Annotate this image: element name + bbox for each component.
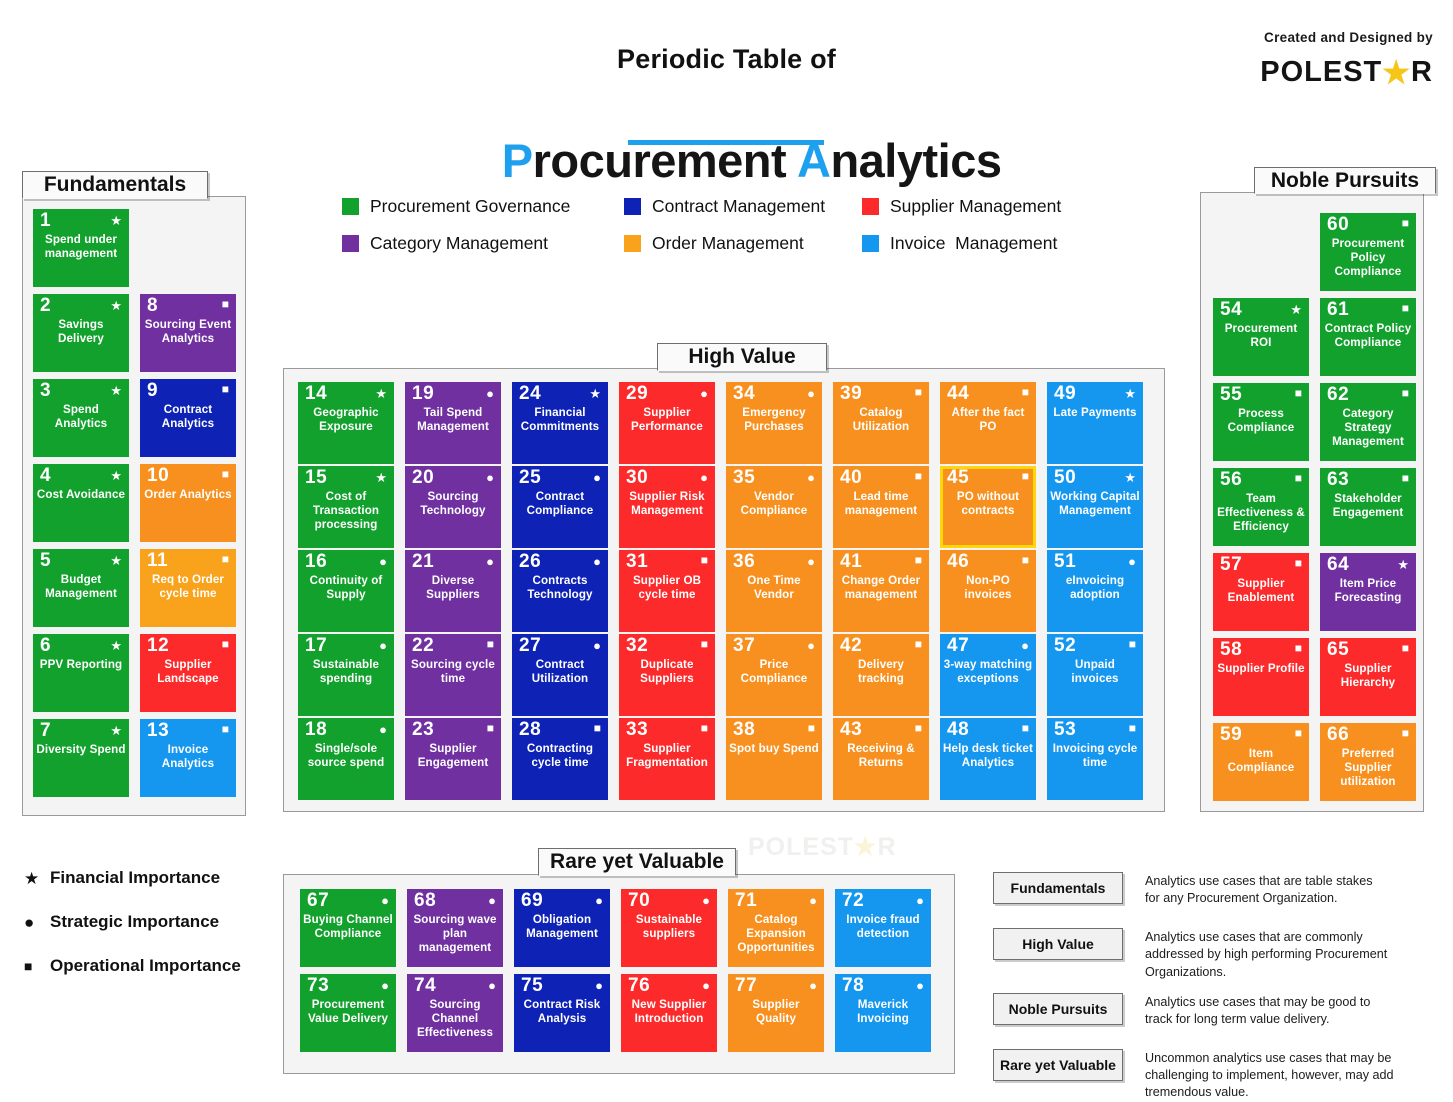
- element-cell[interactable]: 43■Receiving & Returns: [833, 718, 929, 800]
- element-cell[interactable]: 16●Continuity of Supply: [298, 550, 394, 632]
- element-number: 54: [1220, 300, 1242, 320]
- definition-row: FundamentalsAnalytics use cases that are…: [993, 872, 1443, 908]
- category-legend-row: Procurement GovernanceContract Managemen…: [342, 196, 1102, 217]
- color-swatch: [624, 198, 641, 215]
- element-cell[interactable]: 17●Sustainable spending: [298, 634, 394, 716]
- panel-tab-rare-yet-valuable: Rare yet Valuable: [538, 848, 736, 876]
- element-cell[interactable]: 18●Single/sole source spend: [298, 718, 394, 800]
- element-number: 41: [840, 552, 862, 572]
- element-cell[interactable]: 67●Buying Channel Compliance: [300, 889, 396, 967]
- element-number: 20: [412, 468, 434, 488]
- element-cell[interactable]: 27●Contract Utilization: [512, 634, 608, 716]
- importance-legend: ★Financial Importance●Strategic Importan…: [24, 868, 284, 1000]
- element-cell[interactable]: 41■Change Order management: [833, 550, 929, 632]
- panel-fundamentals: 1★Spend under management2★Savings Delive…: [22, 196, 246, 816]
- element-cell[interactable]: 62■Category Strategy Management: [1320, 383, 1416, 461]
- element-name: Catalog Utilization: [836, 406, 926, 434]
- square-icon: ■: [1022, 386, 1029, 398]
- element-number: 15: [305, 468, 327, 488]
- element-number: 26: [519, 552, 541, 572]
- element-name: Invoice fraud detection: [838, 913, 928, 941]
- color-swatch: [624, 235, 641, 252]
- element-number: 74: [414, 976, 436, 996]
- element-name: Sourcing cycle time: [408, 658, 498, 686]
- category-legend-item: Procurement Governance: [342, 196, 624, 217]
- element-cell[interactable]: 6★PPV Reporting: [33, 634, 129, 712]
- element-name: Contract Policy Compliance: [1323, 322, 1413, 350]
- definition-text: Analytics use cases that are commonly ad…: [1145, 928, 1387, 981]
- element-number: 12: [147, 636, 169, 656]
- square-icon: ■: [222, 553, 229, 565]
- importance-legend-label: Strategic Importance: [50, 912, 219, 932]
- element-name: New Supplier Introduction: [624, 998, 714, 1026]
- element-name: Help desk ticket Analytics: [943, 742, 1033, 770]
- element-cell[interactable]: 2★Savings Delivery: [33, 294, 129, 372]
- element-cell[interactable]: 12■Supplier Landscape: [140, 634, 236, 712]
- element-name: Stakeholder Engagement: [1323, 492, 1413, 520]
- element-number: 23: [412, 720, 434, 740]
- element-cell[interactable]: 39■Catalog Utilization: [833, 382, 929, 464]
- element-number: 48: [947, 720, 969, 740]
- circle-icon: ●: [486, 387, 494, 400]
- category-legend-label: Category Management: [370, 233, 548, 254]
- star-icon: ★: [1397, 558, 1409, 571]
- element-name: Contract Risk Analysis: [517, 998, 607, 1026]
- circle-icon: ●: [488, 894, 496, 907]
- panel-tab-high-value: High Value: [657, 343, 827, 371]
- element-cell[interactable]: 49★Late Payments: [1047, 382, 1143, 464]
- element-number: 70: [628, 891, 650, 911]
- element-name: Savings Delivery: [36, 318, 126, 346]
- element-number: 73: [307, 976, 329, 996]
- category-legend-item: Order Management: [624, 233, 862, 254]
- element-cell[interactable]: 61■Contract Policy Compliance: [1320, 298, 1416, 376]
- square-icon: ■: [1402, 727, 1409, 739]
- element-cell[interactable]: 3★Spend Analytics: [33, 379, 129, 457]
- element-name: After the fact PO: [943, 406, 1033, 434]
- element-number: 58: [1220, 640, 1242, 660]
- element-name: Preferred Supplier utilization: [1323, 747, 1413, 789]
- definition-chip[interactable]: Rare yet Valuable: [993, 1049, 1123, 1081]
- star-icon: ★: [1124, 387, 1136, 400]
- element-name: Spend Analytics: [36, 403, 126, 431]
- square-icon: ■: [222, 638, 229, 650]
- element-name: Contracts Technology: [515, 574, 605, 602]
- element-name: Late Payments: [1050, 406, 1140, 420]
- polestar-logo: POLEST★R: [1260, 55, 1433, 87]
- element-number: 68: [414, 891, 436, 911]
- element-name: Continuity of Supply: [301, 574, 391, 602]
- definitions-list: FundamentalsAnalytics use cases that are…: [993, 872, 1443, 1102]
- square-icon: ■: [222, 298, 229, 310]
- element-name: Tail Spend Management: [408, 406, 498, 434]
- element-name: Category Strategy Management: [1323, 407, 1413, 449]
- element-number: 50: [1054, 468, 1076, 488]
- element-number: 49: [1054, 384, 1076, 404]
- element-number: 34: [733, 384, 755, 404]
- square-icon: ■: [701, 722, 708, 734]
- category-legend-label: Invoice Management: [890, 233, 1057, 254]
- element-name: Supplier Fragmentation: [622, 742, 712, 770]
- element-name: Cost Avoidance: [36, 488, 126, 502]
- element-number: 77: [735, 976, 757, 996]
- element-cell[interactable]: 74●Sourcing Channel Effectiveness: [407, 974, 503, 1052]
- definition-chip[interactable]: Noble Pursuits: [993, 993, 1123, 1025]
- circle-icon: ●: [379, 639, 387, 652]
- element-number: 35: [733, 468, 755, 488]
- square-icon: ■: [1129, 722, 1136, 734]
- category-legend-item: Category Management: [342, 233, 624, 254]
- circle-icon: ●: [807, 387, 815, 400]
- category-legend-item: Contract Management: [624, 196, 862, 217]
- element-name: Vendor Compliance: [729, 490, 819, 518]
- circle-icon: ●: [700, 387, 708, 400]
- panel-tab-noble-pursuits: Noble Pursuits: [1254, 167, 1436, 194]
- star-icon: ★: [110, 724, 122, 737]
- polestar-watermark: POLEST★R: [748, 832, 897, 862]
- element-cell[interactable]: 9■Contract Analytics: [140, 379, 236, 457]
- element-number: 32: [626, 636, 648, 656]
- element-cell[interactable]: 63■Stakeholder Engagement: [1320, 468, 1416, 546]
- element-cell[interactable]: 31■Supplier OB cycle time: [619, 550, 715, 632]
- color-swatch: [342, 235, 359, 252]
- category-legend-label: Order Management: [652, 233, 804, 254]
- element-cell[interactable]: 1★Spend under management: [33, 209, 129, 287]
- circle-icon: ●: [24, 914, 50, 931]
- element-number: 25: [519, 468, 541, 488]
- element-name: PO without contracts: [943, 490, 1033, 518]
- element-name: Team Effectiveness & Efficiency: [1216, 492, 1306, 534]
- square-icon: ■: [1022, 554, 1029, 566]
- star-icon: ★: [24, 870, 50, 887]
- element-name: Single/sole source spend: [301, 742, 391, 770]
- element-cell[interactable]: 37●Price Compliance: [726, 634, 822, 716]
- square-icon: ■: [1022, 470, 1029, 482]
- element-number: 11: [147, 551, 168, 571]
- square-icon: ■: [915, 554, 922, 566]
- element-number: 29: [626, 384, 648, 404]
- definition-text: Analytics use cases that are table stake…: [1145, 872, 1373, 908]
- element-cell[interactable]: 50★Working Capital Management: [1047, 466, 1143, 548]
- element-cell[interactable]: 45■PO without contracts: [940, 466, 1036, 548]
- element-cell[interactable]: 48■Help desk ticket Analytics: [940, 718, 1036, 800]
- element-cell[interactable]: 11■Req to Order cycle time: [140, 549, 236, 627]
- watermark-pre: POLEST: [748, 833, 854, 861]
- element-cell[interactable]: 71●Catalog Expansion Opportunities: [728, 889, 824, 967]
- square-icon: ■: [1295, 642, 1302, 654]
- element-number: 14: [305, 384, 327, 404]
- element-name: Procurement Value Delivery: [303, 998, 393, 1026]
- element-number: 30: [626, 468, 648, 488]
- circle-icon: ●: [1128, 555, 1136, 568]
- element-cell[interactable]: 22■Sourcing cycle time: [405, 634, 501, 716]
- element-cell[interactable]: 64★Item Price Forecasting: [1320, 553, 1416, 631]
- element-number: 51: [1054, 552, 1076, 572]
- element-name: Procurement Policy Compliance: [1323, 237, 1413, 279]
- element-cell[interactable]: 78●Maverick Invoicing: [835, 974, 931, 1052]
- element-cell[interactable]: 14★Geographic Exposure: [298, 382, 394, 464]
- category-legend-row: Category ManagementOrder ManagementInvoi…: [342, 233, 1102, 254]
- title-underline: [628, 140, 824, 145]
- definition-text: Analytics use cases that may be good to …: [1145, 993, 1370, 1029]
- element-name: Price Compliance: [729, 658, 819, 686]
- category-legend-label: Procurement Governance: [370, 196, 570, 217]
- color-swatch: [862, 198, 879, 215]
- element-cell[interactable]: 32■Duplicate Suppliers: [619, 634, 715, 716]
- element-name: Item Compliance: [1216, 747, 1306, 775]
- element-cell[interactable]: 19●Tail Spend Management: [405, 382, 501, 464]
- category-legend-label: Supplier Management: [890, 196, 1061, 217]
- element-cell[interactable]: 65■Supplier Hierarchy: [1320, 638, 1416, 716]
- definition-chip[interactable]: High Value: [993, 928, 1123, 960]
- circle-icon: ●: [486, 555, 494, 568]
- element-number: 63: [1327, 470, 1349, 490]
- circle-icon: ●: [595, 979, 603, 992]
- element-number: 10: [147, 466, 169, 486]
- element-number: 18: [305, 720, 327, 740]
- circle-icon: ●: [809, 979, 817, 992]
- square-icon: ■: [1295, 472, 1302, 484]
- credit-text: Created and Designed by: [1264, 30, 1433, 45]
- element-number: 64: [1327, 555, 1349, 575]
- circle-icon: ●: [593, 639, 601, 652]
- circle-icon: ●: [593, 471, 601, 484]
- element-number: 27: [519, 636, 541, 656]
- element-number: 17: [305, 636, 327, 656]
- element-number: 67: [307, 891, 329, 911]
- element-name: Diverse Suppliers: [408, 574, 498, 602]
- element-number: 7: [40, 721, 51, 741]
- element-cell[interactable]: 47●3-way matching exceptions: [940, 634, 1036, 716]
- element-cell[interactable]: 53■Invoicing cycle time: [1047, 718, 1143, 800]
- element-cell[interactable]: 69●Obligation Management: [514, 889, 610, 967]
- element-name: Geographic Exposure: [301, 406, 391, 434]
- element-name: Emergency Purchases: [729, 406, 819, 434]
- element-name: Sustainable suppliers: [624, 913, 714, 941]
- definition-text: Uncommon analytics use cases that may be…: [1145, 1049, 1394, 1102]
- star-icon: ★: [375, 471, 387, 484]
- element-cell[interactable]: 29●Supplier Performance: [619, 382, 715, 464]
- element-cell[interactable]: 44■After the fact PO: [940, 382, 1036, 464]
- title-letter-p: P: [502, 134, 533, 187]
- element-name: Item Price Forecasting: [1323, 577, 1413, 605]
- element-name: Cost of Transaction processing: [301, 490, 391, 532]
- element-name: Duplicate Suppliers: [622, 658, 712, 686]
- element-cell[interactable]: 51●eInvoicing adoption: [1047, 550, 1143, 632]
- element-number: 43: [840, 720, 862, 740]
- color-swatch: [862, 235, 879, 252]
- element-name: Contract Compliance: [515, 490, 605, 518]
- element-name: One Time Vendor: [729, 574, 819, 602]
- element-number: 38: [733, 720, 755, 740]
- element-number: 39: [840, 384, 862, 404]
- element-name: Spend under management: [36, 233, 126, 261]
- element-cell[interactable]: 28■Contracting cycle time: [512, 718, 608, 800]
- circle-icon: ●: [486, 471, 494, 484]
- circle-icon: ●: [916, 894, 924, 907]
- circle-icon: ●: [807, 471, 815, 484]
- category-legend-label: Contract Management: [652, 196, 825, 217]
- element-number: 3: [40, 381, 51, 401]
- element-cell[interactable]: 20●Sourcing Technology: [405, 466, 501, 548]
- element-cell[interactable]: 38■Spot buy Spend: [726, 718, 822, 800]
- element-number: 1: [40, 211, 51, 231]
- definition-chip[interactable]: Fundamentals: [993, 872, 1123, 904]
- element-cell[interactable]: 5★Budget Management: [33, 549, 129, 627]
- element-cell[interactable]: 57■Supplier Enablement: [1213, 553, 1309, 631]
- element-number: 46: [947, 552, 969, 572]
- element-cell[interactable]: 66■Preferred Supplier utilization: [1320, 723, 1416, 801]
- element-name: Catalog Expansion Opportunities: [731, 913, 821, 955]
- star-icon: ★: [1382, 55, 1411, 90]
- element-name: Non-PO invoices: [943, 574, 1033, 602]
- element-cell[interactable]: 13■Invoice Analytics: [140, 719, 236, 797]
- element-cell[interactable]: 55■Process Compliance: [1213, 383, 1309, 461]
- square-icon: ■: [222, 468, 229, 480]
- element-cell[interactable]: 58■Supplier Profile: [1213, 638, 1309, 716]
- square-icon: ■: [1022, 722, 1029, 734]
- category-legend-item: Invoice Management: [862, 233, 1102, 254]
- element-name: Obligation Management: [517, 913, 607, 941]
- element-name: Order Analytics: [143, 488, 233, 502]
- element-number: 2: [40, 296, 51, 316]
- element-name: Supplier Quality: [731, 998, 821, 1026]
- element-cell[interactable]: 46■Non-PO invoices: [940, 550, 1036, 632]
- star-icon: ★: [110, 214, 122, 227]
- element-number: 28: [519, 720, 541, 740]
- circle-icon: ●: [807, 639, 815, 652]
- panel-noble-pursuits: 54★Procurement ROI55■Process Compliance5…: [1200, 192, 1424, 812]
- element-name: Supplier Enablement: [1216, 577, 1306, 605]
- element-name: Supplier Engagement: [408, 742, 498, 770]
- element-cell[interactable]: 40■Lead time management: [833, 466, 929, 548]
- element-number: 16: [305, 552, 327, 572]
- element-name: Spot buy Spend: [729, 742, 819, 756]
- element-cell[interactable]: 4★Cost Avoidance: [33, 464, 129, 542]
- element-cell[interactable]: 60■Procurement Policy Compliance: [1320, 213, 1416, 291]
- square-icon: ■: [222, 383, 229, 395]
- element-cell[interactable]: 70●Sustainable suppliers: [621, 889, 717, 967]
- importance-legend-label: Operational Importance: [50, 956, 241, 976]
- square-icon: ■: [701, 554, 708, 566]
- element-cell[interactable]: 35●Vendor Compliance: [726, 466, 822, 548]
- circle-icon: ●: [809, 894, 817, 907]
- square-icon: ■: [915, 470, 922, 482]
- element-number: 71: [735, 891, 757, 911]
- element-cell[interactable]: 77●Supplier Quality: [728, 974, 824, 1052]
- element-cell[interactable]: 42■Delivery tracking: [833, 634, 929, 716]
- square-icon: ■: [1402, 302, 1409, 314]
- element-name: Req to Order cycle time: [143, 573, 233, 601]
- element-number: 44: [947, 384, 969, 404]
- element-cell[interactable]: 75●Contract Risk Analysis: [514, 974, 610, 1052]
- definition-row: Noble PursuitsAnalytics use cases that m…: [993, 993, 1443, 1029]
- element-cell[interactable]: 7★Diversity Spend: [33, 719, 129, 797]
- circle-icon: ●: [379, 723, 387, 736]
- element-name: Lead time management: [836, 490, 926, 518]
- element-number: 53: [1054, 720, 1076, 740]
- element-cell[interactable]: 33■Supplier Fragmentation: [619, 718, 715, 800]
- element-cell[interactable]: 72●Invoice fraud detection: [835, 889, 931, 967]
- element-cell[interactable]: 23■Supplier Engagement: [405, 718, 501, 800]
- square-icon: ■: [701, 638, 708, 650]
- header-subtitle: Periodic Table of: [0, 44, 1453, 75]
- element-cell[interactable]: 73●Procurement Value Delivery: [300, 974, 396, 1052]
- element-number: 13: [147, 721, 169, 741]
- circle-icon: ●: [916, 979, 924, 992]
- element-number: 5: [40, 551, 51, 571]
- importance-legend-label: Financial Importance: [50, 868, 220, 888]
- square-icon: ■: [594, 722, 601, 734]
- star-icon: ★: [110, 554, 122, 567]
- square-icon: ■: [222, 723, 229, 735]
- element-number: 8: [147, 296, 158, 316]
- element-name: Supplier Profile: [1216, 662, 1306, 676]
- panel-rare-yet-valuable: 67●Buying Channel Compliance68●Sourcing …: [283, 874, 955, 1074]
- element-name: Sourcing Channel Effectiveness: [410, 998, 500, 1040]
- element-number: 65: [1327, 640, 1349, 660]
- star-icon: ★: [110, 299, 122, 312]
- element-cell[interactable]: 24★Financial Commitments: [512, 382, 608, 464]
- element-name: Budget Management: [36, 573, 126, 601]
- square-icon: ■: [487, 722, 494, 734]
- star-icon: ★: [110, 384, 122, 397]
- circle-icon: ●: [381, 894, 389, 907]
- element-cell[interactable]: 30●Supplier Risk Management: [619, 466, 715, 548]
- element-number: 69: [521, 891, 543, 911]
- element-cell[interactable]: 54★Procurement ROI: [1213, 298, 1309, 376]
- element-cell[interactable]: 34●Emergency Purchases: [726, 382, 822, 464]
- element-cell[interactable]: 59■Item Compliance: [1213, 723, 1309, 801]
- element-name: Invoicing cycle time: [1050, 742, 1140, 770]
- element-number: 72: [842, 891, 864, 911]
- element-cell[interactable]: 21●Diverse Suppliers: [405, 550, 501, 632]
- star-icon: ★: [110, 639, 122, 652]
- element-cell[interactable]: 25●Contract Compliance: [512, 466, 608, 548]
- element-cell[interactable]: 52■Unpaid invoices: [1047, 634, 1143, 716]
- element-number: 21: [412, 552, 434, 572]
- element-name: Process Compliance: [1216, 407, 1306, 435]
- element-number: 75: [521, 976, 543, 996]
- element-number: 42: [840, 636, 862, 656]
- star-icon: ★: [1290, 303, 1302, 316]
- star-icon: ★: [375, 387, 387, 400]
- element-cell[interactable]: 36●One Time Vendor: [726, 550, 822, 632]
- square-icon: ■: [808, 722, 815, 734]
- element-cell[interactable]: 76●New Supplier Introduction: [621, 974, 717, 1052]
- element-number: 9: [147, 381, 158, 401]
- element-number: 4: [40, 466, 51, 486]
- circle-icon: ●: [488, 979, 496, 992]
- element-cell[interactable]: 10■Order Analytics: [140, 464, 236, 542]
- circle-icon: ●: [702, 979, 710, 992]
- element-number: 52: [1054, 636, 1076, 656]
- square-icon: ■: [1402, 472, 1409, 484]
- element-cell[interactable]: 68●Sourcing wave plan management: [407, 889, 503, 967]
- element-cell[interactable]: 26●Contracts Technology: [512, 550, 608, 632]
- element-number: 56: [1220, 470, 1242, 490]
- logo-text-post: R: [1411, 56, 1433, 88]
- element-name: Supplier Risk Management: [622, 490, 712, 518]
- element-cell[interactable]: 56■Team Effectiveness & Efficiency: [1213, 468, 1309, 546]
- element-cell[interactable]: 8■Sourcing Event Analytics: [140, 294, 236, 372]
- definition-row: High ValueAnalytics use cases that are c…: [993, 928, 1443, 981]
- element-number: 6: [40, 636, 51, 656]
- element-number: 47: [947, 636, 969, 656]
- category-legend-item: Supplier Management: [862, 196, 1102, 217]
- element-cell[interactable]: 15★Cost of Transaction processing: [298, 466, 394, 548]
- element-name: Invoice Analytics: [143, 743, 233, 771]
